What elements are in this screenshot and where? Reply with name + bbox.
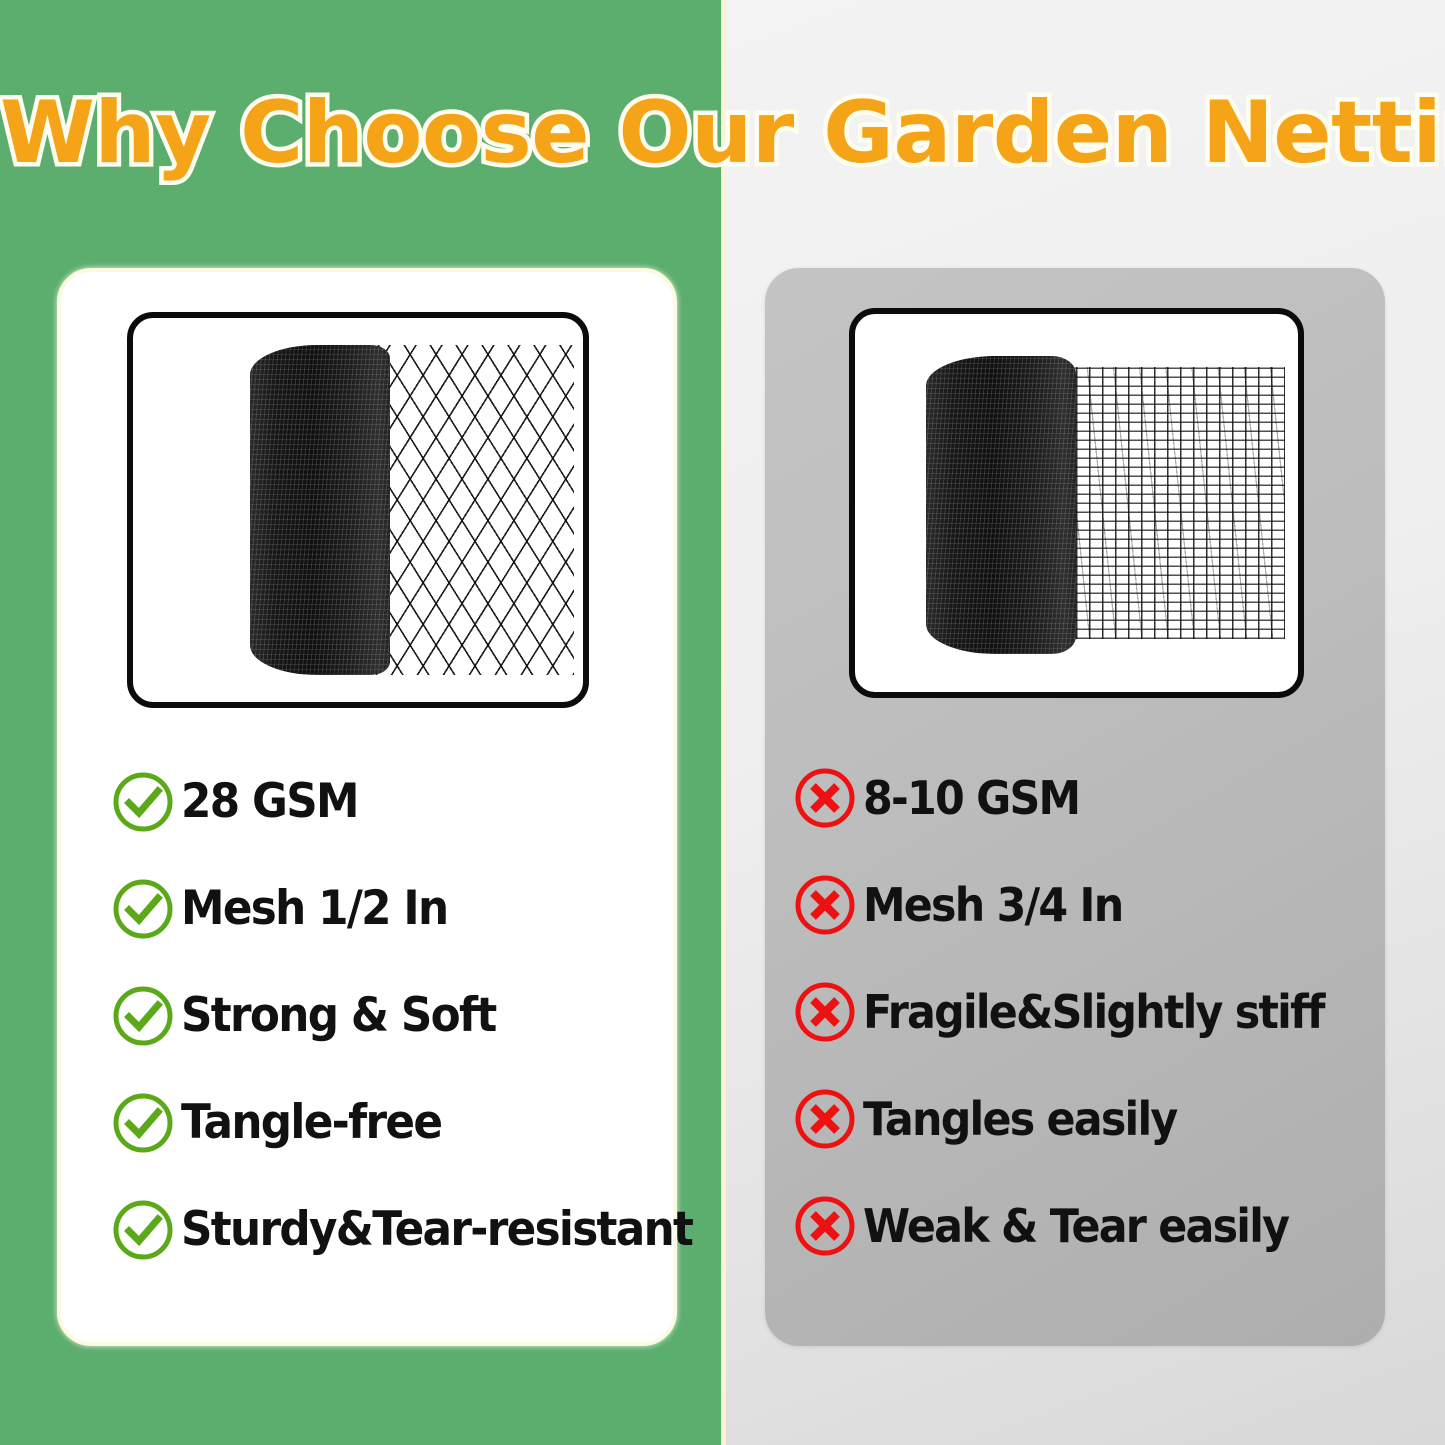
feature-label: Fragile&Slightly stiff [863, 989, 1324, 1035]
cross-circle-icon [793, 873, 857, 937]
feature-label: Tangles easily [863, 1096, 1176, 1142]
feature-label: 8-10 GSM [863, 775, 1079, 821]
feature-label: Tangle-free [181, 1099, 441, 1146]
list-item: Sturdy&Tear-resistant [111, 1176, 711, 1283]
check-circle-icon [111, 984, 175, 1048]
feature-label: Mesh 3/4 In [863, 882, 1122, 928]
our-product-photo [133, 318, 583, 702]
check-circle-icon [111, 877, 175, 941]
feature-label: Sturdy&Tear-resistant [181, 1206, 692, 1253]
list-item: Mesh 3/4 In [793, 851, 1393, 958]
netting-roll-graphic [250, 345, 390, 675]
other-product-feature-list: 8-10 GSM Mesh 3/4 In Fragile&Slightly st… [793, 744, 1393, 1279]
netting-roll-graphic [926, 356, 1077, 655]
check-circle-icon [111, 1198, 175, 1262]
feature-label: 28 GSM [181, 778, 358, 825]
our-product-photo-frame [127, 312, 589, 708]
comparison-infographic: Why Choose Our Garden Netting? 28 GSM [0, 0, 1445, 1445]
page-title: Why Choose Our Garden Netting? [0, 88, 1445, 178]
cross-circle-icon [793, 1087, 857, 1151]
list-item: Weak & Tear easily [793, 1172, 1393, 1279]
other-product-card: 8-10 GSM Mesh 3/4 In Fragile&Slightly st… [765, 268, 1385, 1346]
check-circle-icon [111, 1091, 175, 1155]
grid-mesh-graphic [1063, 367, 1285, 639]
cross-circle-icon [793, 980, 857, 1044]
cross-circle-icon [793, 1194, 857, 1258]
list-item: Tangles easily [793, 1065, 1393, 1172]
feature-label: Weak & Tear easily [863, 1203, 1288, 1249]
panel-divider [721, 0, 726, 1445]
diamond-mesh-graphic [376, 345, 574, 675]
list-item: Tangle-free [111, 1069, 711, 1176]
other-product-photo-frame [849, 308, 1304, 698]
list-item: Strong & Soft [111, 962, 711, 1069]
check-circle-icon [111, 770, 175, 834]
our-product-feature-list: 28 GSM Mesh 1/2 In Strong & Soft [111, 748, 711, 1283]
our-product-card: 28 GSM Mesh 1/2 In Strong & Soft [57, 268, 677, 1346]
list-item: Mesh 1/2 In [111, 855, 711, 962]
other-product-photo [855, 314, 1298, 692]
feature-label: Strong & Soft [181, 992, 496, 1039]
list-item: 8-10 GSM [793, 744, 1393, 851]
cross-circle-icon [793, 766, 857, 830]
list-item: 28 GSM [111, 748, 711, 855]
list-item: Fragile&Slightly stiff [793, 958, 1393, 1065]
feature-label: Mesh 1/2 In [181, 885, 447, 932]
